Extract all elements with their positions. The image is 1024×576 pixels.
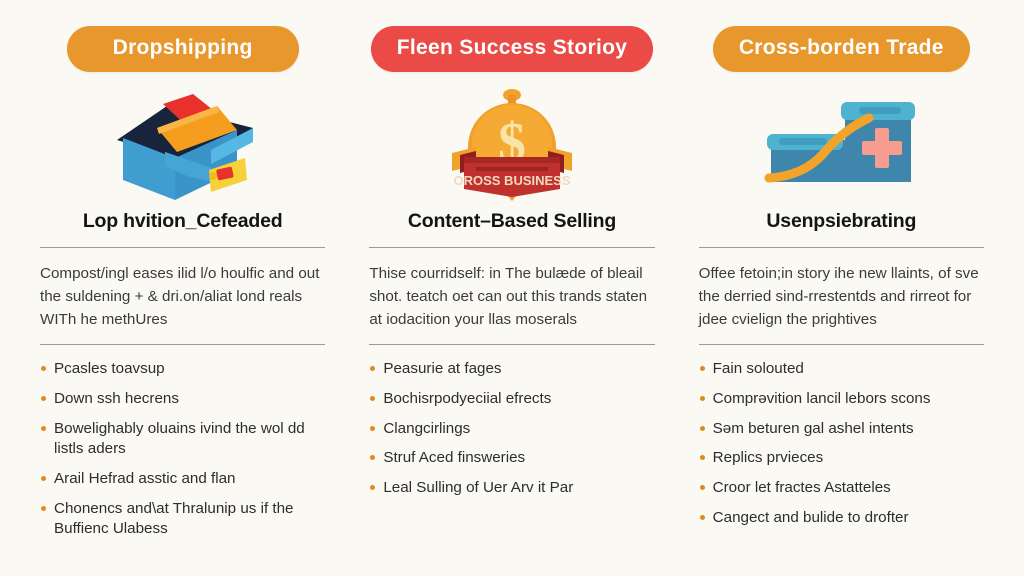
list-item: Clangcirlings [369, 419, 654, 440]
growth-chart-cross-icon [699, 86, 984, 202]
column-header-pill-dropshipping[interactable]: Dropshipping [67, 26, 299, 72]
ribbon-text: OROSS BUSINESS [453, 173, 570, 188]
list-item: Replics prvieces [699, 448, 984, 469]
list-item: Leal Sulling of Uer Arv it Par [369, 478, 654, 499]
list-item: Arail Hefrad asstic and flan [40, 469, 325, 490]
list-item: Croor let fractes Astatteles [699, 478, 984, 499]
list-item: Struf Aced finsweries [369, 448, 654, 469]
bullet-list-success-story: Peasurie at fages Bochisrpodyeciial efre… [369, 359, 654, 507]
column-cross-border-trade: Cross-borden Trade Usenpsiebrat [677, 26, 1006, 566]
bullet-list-cross-border-trade: Fain solouted Comprəvition lancil lebors… [699, 359, 984, 537]
list-item: Bochisrpodyeciial efrects [369, 389, 654, 410]
list-item: Comprəvition lancil lebors scons [699, 389, 984, 410]
list-item: Səm beturen gal ashel intents [699, 419, 984, 440]
list-item: Peasurie at fages [369, 359, 654, 380]
list-item: Pcasles toavsup [40, 359, 325, 380]
column-paragraph-dropshipping: Compost/ingl eases ilid l/o houlfic and … [40, 262, 325, 331]
column-header-pill-cross-border-trade[interactable]: Cross-borden Trade [713, 26, 970, 72]
bullet-list-dropshipping: Pcasles toavsup Down ssh hecrens Bowelig… [40, 359, 325, 549]
column-success-story: Fleen Success Storioy $ [347, 26, 676, 566]
paragraph-divider [40, 344, 325, 345]
subtitle-divider [369, 247, 654, 248]
list-item: Cangect and bulide to drofter [699, 508, 984, 529]
list-item: Chonencs and\at Thralunip us if the Buff… [40, 499, 325, 540]
column-header-pill-success-story[interactable]: Fleen Success Storioy [371, 26, 653, 72]
paragraph-divider [369, 344, 654, 345]
infographic-root: Dropshipping [0, 0, 1024, 576]
list-item: Down ssh hecrens [40, 389, 325, 410]
column-paragraph-success-story: Thise courridself: in The bulæde of blea… [369, 262, 654, 331]
open-shipping-box-icon [40, 86, 325, 202]
dollar-badge-ribbon-icon: $ OROSS BUSINESS [369, 86, 654, 202]
column-subtitle-success-story: Content–Based Selling [408, 210, 616, 233]
paragraph-divider [699, 344, 984, 345]
subtitle-divider [699, 247, 984, 248]
column-subtitle-cross-border-trade: Usenpsiebrating [766, 210, 916, 233]
list-item: Bowelighably oluains ivind the wol dd li… [40, 419, 325, 460]
column-dropshipping: Dropshipping [18, 26, 347, 566]
subtitle-divider [40, 247, 325, 248]
list-item: Fain solouted [699, 359, 984, 380]
column-subtitle-dropshipping: Lop hvition_Cefeaded [83, 210, 283, 233]
column-paragraph-cross-border-trade: Offee fetoin;in story ihe new llaints, o… [699, 262, 984, 331]
